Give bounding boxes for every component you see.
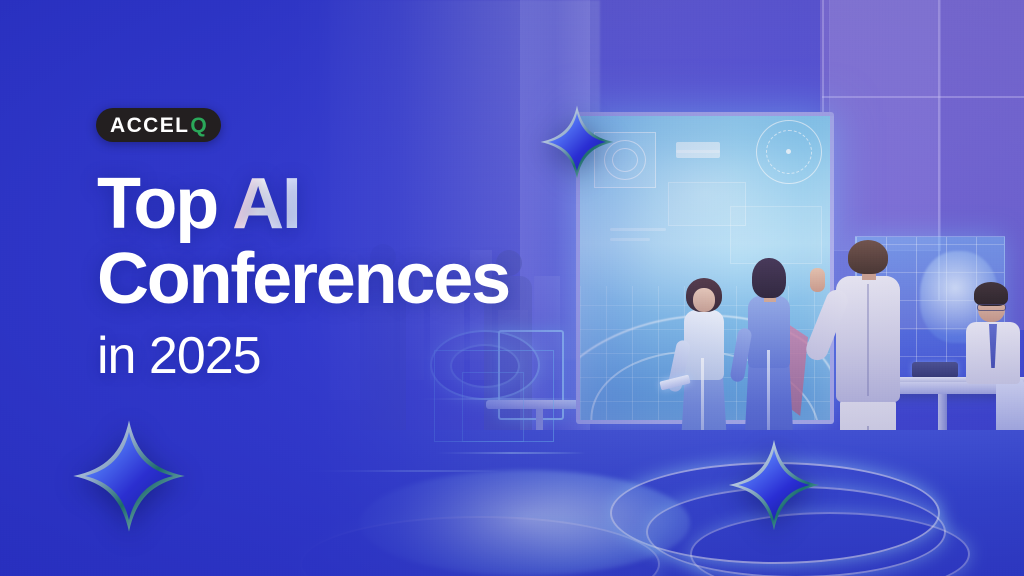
headline-line-1-plain: Top xyxy=(97,164,232,244)
headline-line-1: Top AI xyxy=(97,170,617,239)
headline-accent-ai: AI xyxy=(232,164,300,244)
headline-line-2: Conferences xyxy=(97,245,617,314)
star-bottom-left xyxy=(66,418,192,534)
logo-wordmark: ACCEL xyxy=(110,115,189,136)
logo-accent-letter: Q xyxy=(190,115,206,136)
banner-root: ACCEL Q Top AI Conferences in 2025 xyxy=(0,0,1024,576)
accelq-logo[interactable]: ACCEL Q xyxy=(96,108,221,142)
star-top-center xyxy=(536,104,618,180)
headline-line-3: in 2025 xyxy=(97,330,617,382)
headline-block: Top AI Conferences in 2025 xyxy=(97,170,617,382)
star-bottom-center xyxy=(722,438,826,532)
